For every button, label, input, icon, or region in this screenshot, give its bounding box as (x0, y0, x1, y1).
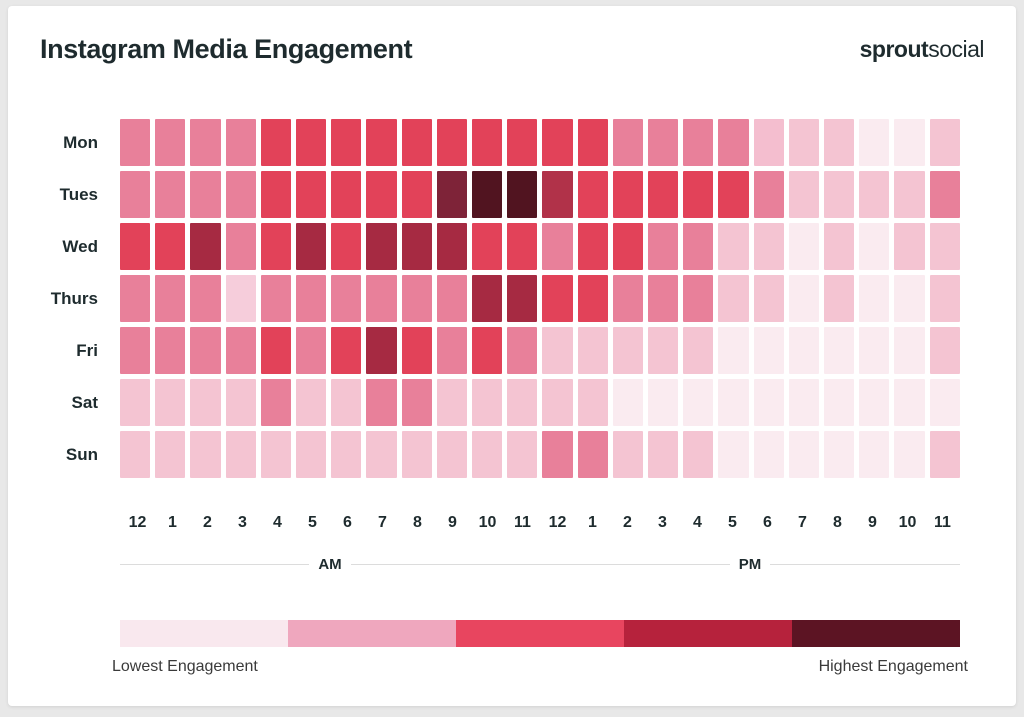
hour-label: 1 (575, 514, 610, 532)
heatmap-cell[interactable] (331, 275, 361, 322)
day-axis: MonTuesWedThursFriSatSun (8, 119, 108, 484)
heatmap-cell[interactable] (190, 171, 220, 218)
heatmap-cell[interactable] (155, 275, 185, 322)
heatmap-cell[interactable] (120, 327, 150, 374)
hour-label: 4 (260, 514, 295, 532)
heatmap-cell[interactable] (718, 379, 748, 426)
heatmap-cell[interactable] (155, 119, 185, 166)
heatmap-cell[interactable] (402, 119, 432, 166)
heatmap-cell[interactable] (542, 379, 572, 426)
heatmap-cell[interactable] (718, 327, 748, 374)
heatmap-cell[interactable] (613, 327, 643, 374)
heatmap-cell[interactable] (296, 275, 326, 322)
heatmap-cell[interactable] (402, 327, 432, 374)
heatmap-cell[interactable] (613, 379, 643, 426)
heatmap-cell[interactable] (402, 171, 432, 218)
heatmap-cell[interactable] (718, 119, 748, 166)
heatmap-cell[interactable] (859, 275, 889, 322)
heatmap-row (120, 327, 960, 374)
heatmap-cell[interactable] (683, 379, 713, 426)
heatmap-cell[interactable] (754, 171, 784, 218)
heatmap-cell[interactable] (859, 119, 889, 166)
day-label-fri: Fri (8, 327, 108, 374)
heatmap-cell[interactable] (648, 431, 678, 478)
heatmap-cell[interactable] (894, 171, 924, 218)
heatmap-cell[interactable] (613, 171, 643, 218)
day-label-wed: Wed (8, 223, 108, 270)
heatmap-cell[interactable] (437, 171, 467, 218)
heatmap-cell[interactable] (155, 431, 185, 478)
heatmap-cell[interactable] (789, 431, 819, 478)
heatmap-cell[interactable] (859, 379, 889, 426)
heatmap-cell[interactable] (402, 275, 432, 322)
heatmap-cell[interactable] (789, 119, 819, 166)
heatmap-cell[interactable] (331, 327, 361, 374)
heatmap-cell[interactable] (754, 223, 784, 270)
heatmap-cell[interactable] (578, 119, 608, 166)
heatmap-cell[interactable] (190, 119, 220, 166)
heatmap-cell[interactable] (648, 171, 678, 218)
heatmap-cell[interactable] (120, 171, 150, 218)
heatmap-cell[interactable] (542, 431, 572, 478)
heatmap-cell[interactable] (613, 275, 643, 322)
heatmap-cell[interactable] (754, 119, 784, 166)
day-label-mon: Mon (8, 119, 108, 166)
heatmap-cell[interactable] (859, 431, 889, 478)
hour-label: 2 (190, 514, 225, 532)
heatmap-cell[interactable] (226, 171, 256, 218)
heatmap-cell[interactable] (437, 379, 467, 426)
heatmap-cell[interactable] (683, 275, 713, 322)
heatmap-cell[interactable] (472, 379, 502, 426)
hour-label: 10 (470, 514, 505, 532)
heatmap-cell[interactable] (542, 275, 572, 322)
heatmap-cell[interactable] (507, 223, 537, 270)
chart-header: Instagram Media Engagement sproutsocial (8, 6, 1016, 98)
legend-highest-label: Highest Engagement (819, 658, 968, 676)
heatmap-cell[interactable] (789, 275, 819, 322)
heatmap-cell[interactable] (472, 431, 502, 478)
heatmap-row (120, 379, 960, 426)
heatmap-cell[interactable] (296, 119, 326, 166)
heatmap-cell[interactable] (718, 223, 748, 270)
am-line-right (351, 564, 540, 565)
heatmap-cell[interactable] (261, 119, 291, 166)
day-label-sat: Sat (8, 379, 108, 426)
heatmap-cell[interactable] (507, 431, 537, 478)
heatmap-cell[interactable] (578, 431, 608, 478)
heatmap-cell[interactable] (437, 327, 467, 374)
heatmap-cell[interactable] (824, 171, 854, 218)
heatmap-cell[interactable] (261, 327, 291, 374)
heatmap-cell[interactable] (226, 275, 256, 322)
hour-label: 6 (750, 514, 785, 532)
heatmap-cell[interactable] (120, 223, 150, 270)
hour-label: 11 (505, 514, 540, 532)
heatmap-cell[interactable] (190, 327, 220, 374)
heatmap-cell[interactable] (754, 431, 784, 478)
pm-line-right (770, 564, 960, 565)
heatmap-cell[interactable] (155, 223, 185, 270)
hour-label: 9 (435, 514, 470, 532)
heatmap-row (120, 171, 960, 218)
heatmap-cell[interactable] (718, 171, 748, 218)
day-label-tues: Tues (8, 171, 108, 218)
am-group: AM (120, 556, 540, 573)
heatmap-cell[interactable] (824, 119, 854, 166)
heatmap-cell[interactable] (648, 223, 678, 270)
am-label: AM (318, 556, 341, 573)
heatmap-cell[interactable] (261, 431, 291, 478)
heatmap-cell[interactable] (190, 223, 220, 270)
heatmap-cell[interactable] (331, 119, 361, 166)
heatmap-cell[interactable] (718, 431, 748, 478)
legend-segment-3 (456, 620, 624, 647)
hour-label: 12 (120, 514, 155, 532)
hour-label: 5 (295, 514, 330, 532)
pm-label: PM (739, 556, 762, 573)
heatmap-cell[interactable] (366, 171, 396, 218)
heatmap-cell[interactable] (613, 119, 643, 166)
heatmap-grid (120, 119, 960, 484)
heatmap-cell[interactable] (930, 119, 960, 166)
logo-bold-text: sprout (860, 36, 929, 62)
heatmap-cell[interactable] (578, 171, 608, 218)
heatmap-cell[interactable] (507, 119, 537, 166)
pm-line-left (540, 564, 730, 565)
heatmap-cell[interactable] (472, 327, 502, 374)
logo-regular-text: social (928, 36, 984, 62)
heatmap-cell[interactable] (578, 379, 608, 426)
hour-label: 11 (925, 514, 960, 532)
hour-label: 8 (820, 514, 855, 532)
heatmap-cell[interactable] (789, 171, 819, 218)
page-title: Instagram Media Engagement (40, 34, 412, 65)
heatmap-cell[interactable] (226, 119, 256, 166)
heatmap-cell[interactable] (507, 327, 537, 374)
heatmap-cell[interactable] (507, 379, 537, 426)
heatmap-cell[interactable] (331, 171, 361, 218)
heatmap-cell[interactable] (120, 431, 150, 478)
heatmap-cell[interactable] (120, 119, 150, 166)
heatmap-cell[interactable] (226, 379, 256, 426)
heatmap-cell[interactable] (437, 275, 467, 322)
heatmap-cell[interactable] (824, 223, 854, 270)
legend-lowest-label: Lowest Engagement (112, 658, 258, 676)
pm-group: PM (540, 556, 960, 573)
heatmap-cell[interactable] (402, 223, 432, 270)
heatmap-cell[interactable] (155, 379, 185, 426)
heatmap-cell[interactable] (894, 275, 924, 322)
heatmap-cell[interactable] (120, 379, 150, 426)
heatmap-cell[interactable] (261, 275, 291, 322)
heatmap-cell[interactable] (366, 327, 396, 374)
legend-color-bar (120, 620, 960, 647)
hour-label: 2 (610, 514, 645, 532)
heatmap-cell[interactable] (226, 327, 256, 374)
hour-label: 3 (645, 514, 680, 532)
heatmap-cell[interactable] (930, 171, 960, 218)
heatmap-cell[interactable] (190, 275, 220, 322)
sprout-social-logo: sproutsocial (860, 36, 984, 63)
heatmap-cell[interactable] (613, 431, 643, 478)
day-label-thurs: Thurs (8, 275, 108, 322)
heatmap-cell[interactable] (859, 223, 889, 270)
heatmap-cell[interactable] (155, 171, 185, 218)
chart-card: Instagram Media Engagement sproutsocial … (8, 6, 1016, 706)
day-label-sun: Sun (8, 431, 108, 478)
heatmap-cell[interactable] (331, 379, 361, 426)
heatmap-cell[interactable] (190, 431, 220, 478)
heatmap-cell[interactable] (648, 327, 678, 374)
hour-label: 8 (400, 514, 435, 532)
heatmap-cell[interactable] (894, 431, 924, 478)
heatmap-cell[interactable] (155, 327, 185, 374)
heatmap-cell[interactable] (296, 171, 326, 218)
heatmap-cell[interactable] (754, 327, 784, 374)
heatmap-cell[interactable] (366, 275, 396, 322)
hour-label: 7 (785, 514, 820, 532)
heatmap-row (120, 275, 960, 322)
heatmap-cell[interactable] (261, 379, 291, 426)
heatmap-cell[interactable] (824, 431, 854, 478)
heatmap-cell[interactable] (366, 223, 396, 270)
heatmap-cell[interactable] (789, 223, 819, 270)
heatmap-cell[interactable] (437, 119, 467, 166)
heatmap-row (120, 223, 960, 270)
heatmap-row (120, 431, 960, 478)
heatmap-cell[interactable] (261, 223, 291, 270)
hour-label: 3 (225, 514, 260, 532)
heatmap-cell[interactable] (366, 119, 396, 166)
hour-axis: 121234567891011121234567891011 (120, 514, 960, 532)
hour-label: 9 (855, 514, 890, 532)
heatmap-cell[interactable] (472, 171, 502, 218)
heatmap-cell[interactable] (296, 379, 326, 426)
hour-label: 6 (330, 514, 365, 532)
heatmap-cell[interactable] (859, 327, 889, 374)
heatmap-cell[interactable] (507, 275, 537, 322)
hour-label: 7 (365, 514, 400, 532)
legend-segment-1 (120, 620, 288, 647)
heatmap-cell[interactable] (261, 171, 291, 218)
heatmap-cell[interactable] (930, 327, 960, 374)
heatmap-cell[interactable] (894, 327, 924, 374)
heatmap-cell[interactable] (930, 379, 960, 426)
heatmap-cell[interactable] (472, 275, 502, 322)
heatmap-cell[interactable] (789, 327, 819, 374)
hour-label: 5 (715, 514, 750, 532)
heatmap-cell[interactable] (402, 379, 432, 426)
heatmap-cell[interactable] (613, 223, 643, 270)
heatmap-cell[interactable] (789, 379, 819, 426)
heatmap-cell[interactable] (683, 223, 713, 270)
heatmap-cell[interactable] (190, 379, 220, 426)
heatmap-cell[interactable] (578, 223, 608, 270)
heatmap-cell[interactable] (578, 275, 608, 322)
heatmap-cell[interactable] (296, 327, 326, 374)
legend-segment-2 (288, 620, 456, 647)
heatmap-cell[interactable] (859, 171, 889, 218)
heatmap-cell[interactable] (437, 223, 467, 270)
hour-label: 1 (155, 514, 190, 532)
heatmap-cell[interactable] (331, 223, 361, 270)
heatmap-cell[interactable] (683, 171, 713, 218)
legend-segment-4 (624, 620, 792, 647)
heatmap-cell[interactable] (437, 431, 467, 478)
heatmap-cell[interactable] (754, 379, 784, 426)
heatmap-cell[interactable] (542, 327, 572, 374)
heatmap-cell[interactable] (402, 431, 432, 478)
heatmap-cell[interactable] (507, 171, 537, 218)
am-line-left (120, 564, 309, 565)
heatmap-cell[interactable] (120, 275, 150, 322)
heatmap-cell[interactable] (894, 119, 924, 166)
heatmap-cell[interactable] (648, 119, 678, 166)
heatmap-cell[interactable] (226, 223, 256, 270)
heatmap-cell[interactable] (542, 223, 572, 270)
heatmap-cell[interactable] (331, 431, 361, 478)
heatmap-cell[interactable] (824, 275, 854, 322)
heatmap-cell[interactable] (894, 379, 924, 426)
heatmap-cell[interactable] (683, 431, 713, 478)
heatmap-cell[interactable] (226, 431, 256, 478)
heatmap-cell[interactable] (930, 223, 960, 270)
hour-label: 4 (680, 514, 715, 532)
heatmap-cell[interactable] (683, 119, 713, 166)
heatmap-cell[interactable] (894, 223, 924, 270)
heatmap-cell[interactable] (578, 327, 608, 374)
legend-labels: Lowest Engagement Highest Engagement (112, 658, 968, 676)
heatmap-cell[interactable] (296, 223, 326, 270)
heatmap-cell[interactable] (930, 431, 960, 478)
heatmap-cell[interactable] (754, 275, 784, 322)
heatmap-cell[interactable] (472, 119, 502, 166)
heatmap-cell[interactable] (542, 171, 572, 218)
heatmap-cell[interactable] (683, 327, 713, 374)
heatmap-cell[interactable] (824, 379, 854, 426)
heatmap-cell[interactable] (542, 119, 572, 166)
heatmap-cell[interactable] (718, 275, 748, 322)
hour-label: 10 (890, 514, 925, 532)
ampm-axis: AM PM (120, 556, 960, 573)
heatmap-cell[interactable] (930, 275, 960, 322)
hour-label: 12 (540, 514, 575, 532)
heatmap-cell[interactable] (296, 431, 326, 478)
heatmap-row (120, 119, 960, 166)
heatmap-cell[interactable] (648, 379, 678, 426)
legend-segment-5 (792, 620, 960, 647)
heatmap-cell[interactable] (366, 379, 396, 426)
heatmap-cell[interactable] (366, 431, 396, 478)
heatmap-cell[interactable] (472, 223, 502, 270)
heatmap-cell[interactable] (648, 275, 678, 322)
heatmap-cell[interactable] (824, 327, 854, 374)
